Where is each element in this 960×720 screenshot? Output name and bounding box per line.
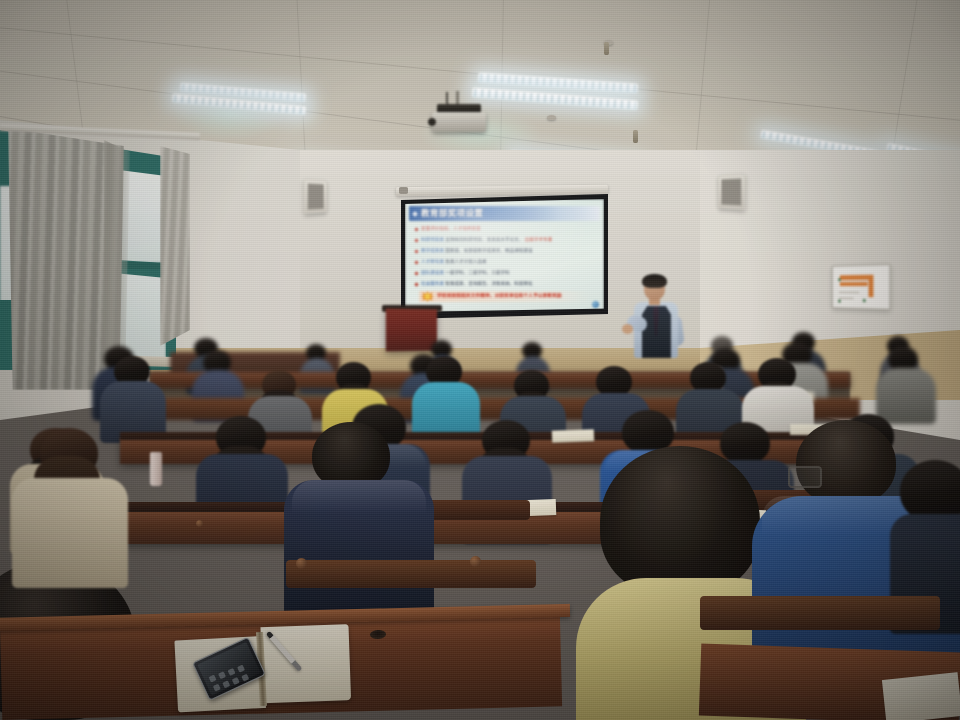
slide-bullet-5-label: 社会服务类 [421,281,444,286]
wall-speaker-left [304,179,327,214]
smoke-detector-icon [547,115,556,120]
slide-bullet-3: 人才称号类 各类人才计划入选者 [421,259,487,265]
ceiling-hook-icon [604,42,609,55]
institution-logo [592,301,599,308]
evacuation-plan-sign [832,264,890,310]
window-curtain-secondary[interactable] [160,146,190,346]
paper-sheet-right [882,672,960,720]
chair-knob [470,556,481,567]
slide-bullet-3-text: 各类人才计划入选者 [445,259,486,264]
slide-bullet-1-label: 科研项目类 [421,237,444,242]
slide-bullet-2-text: 国家级、省部级教学成果奖、精品课程建设 [445,248,532,253]
glasses-icon [788,466,822,488]
slide-bullet-4-text: 一级学科、二级学科、三级学科 [445,270,509,275]
open-notebook[interactable] [174,624,350,715]
slide-bullet-2-label: 教学成果类 [421,248,444,253]
slide-bullet-3-label: 人才称号类 [421,259,444,264]
slide-bullet-4-label: 团队建设类 [421,270,444,275]
slide-footer-text: 学校将按照相关文件精神，对获奖单位和个人予以表彰奖励 [437,294,562,300]
slide-bullet-2: 教学成果类 国家级、省部级教学成果奖、精品课程建设 [421,248,533,254]
ceiling-projector [432,112,486,132]
slide-bullet-1-highlight: 出版学术专著 [525,237,553,242]
slide-bullet-0: 定量评价指标、人才培养质量 [421,226,481,232]
lecture-hall-photo: 教育部奖项设置 定量评价指标、人才培养质量 科研项目类 主持纵向科研项目、发表高… [0,0,960,720]
ceiling-hook-icon [633,130,638,143]
slide-bullet-5-text: 智库成果、咨询报告、决策采纳、科技转化 [445,281,532,286]
projection-screen[interactable]: 教育部奖项设置 定量评价指标、人才培养质量 科研项目类 主持纵向科研项目、发表高… [405,199,604,312]
slide-bullet-4: 团队建设类 一级学科、二级学科、三级学科 [421,270,510,276]
slide-bullet-5: 社会服务类 智库成果、咨询报告、决策采纳、科技转化 [421,281,533,287]
speaker-grill-icon [721,178,741,205]
projector-lens-icon [428,118,436,126]
chair-back-foreground [286,560,536,588]
chair-back-foreground-right [700,596,940,630]
screen-casing-endcap [399,187,408,194]
starburst-icon [421,291,434,302]
speaker-grill-icon [308,184,324,210]
slide-bullet-1-text: 主持纵向科研项目、发表高水平论文、 [445,237,523,242]
wall-speaker-right [718,174,745,210]
slide-bullet-1: 科研项目类 主持纵向科研项目、发表高水平论文、 出版学术专著 [421,237,552,243]
chair-knob [296,558,307,569]
slide-title: 教育部奖项设置 [421,208,483,219]
glasses-icon [645,284,664,288]
